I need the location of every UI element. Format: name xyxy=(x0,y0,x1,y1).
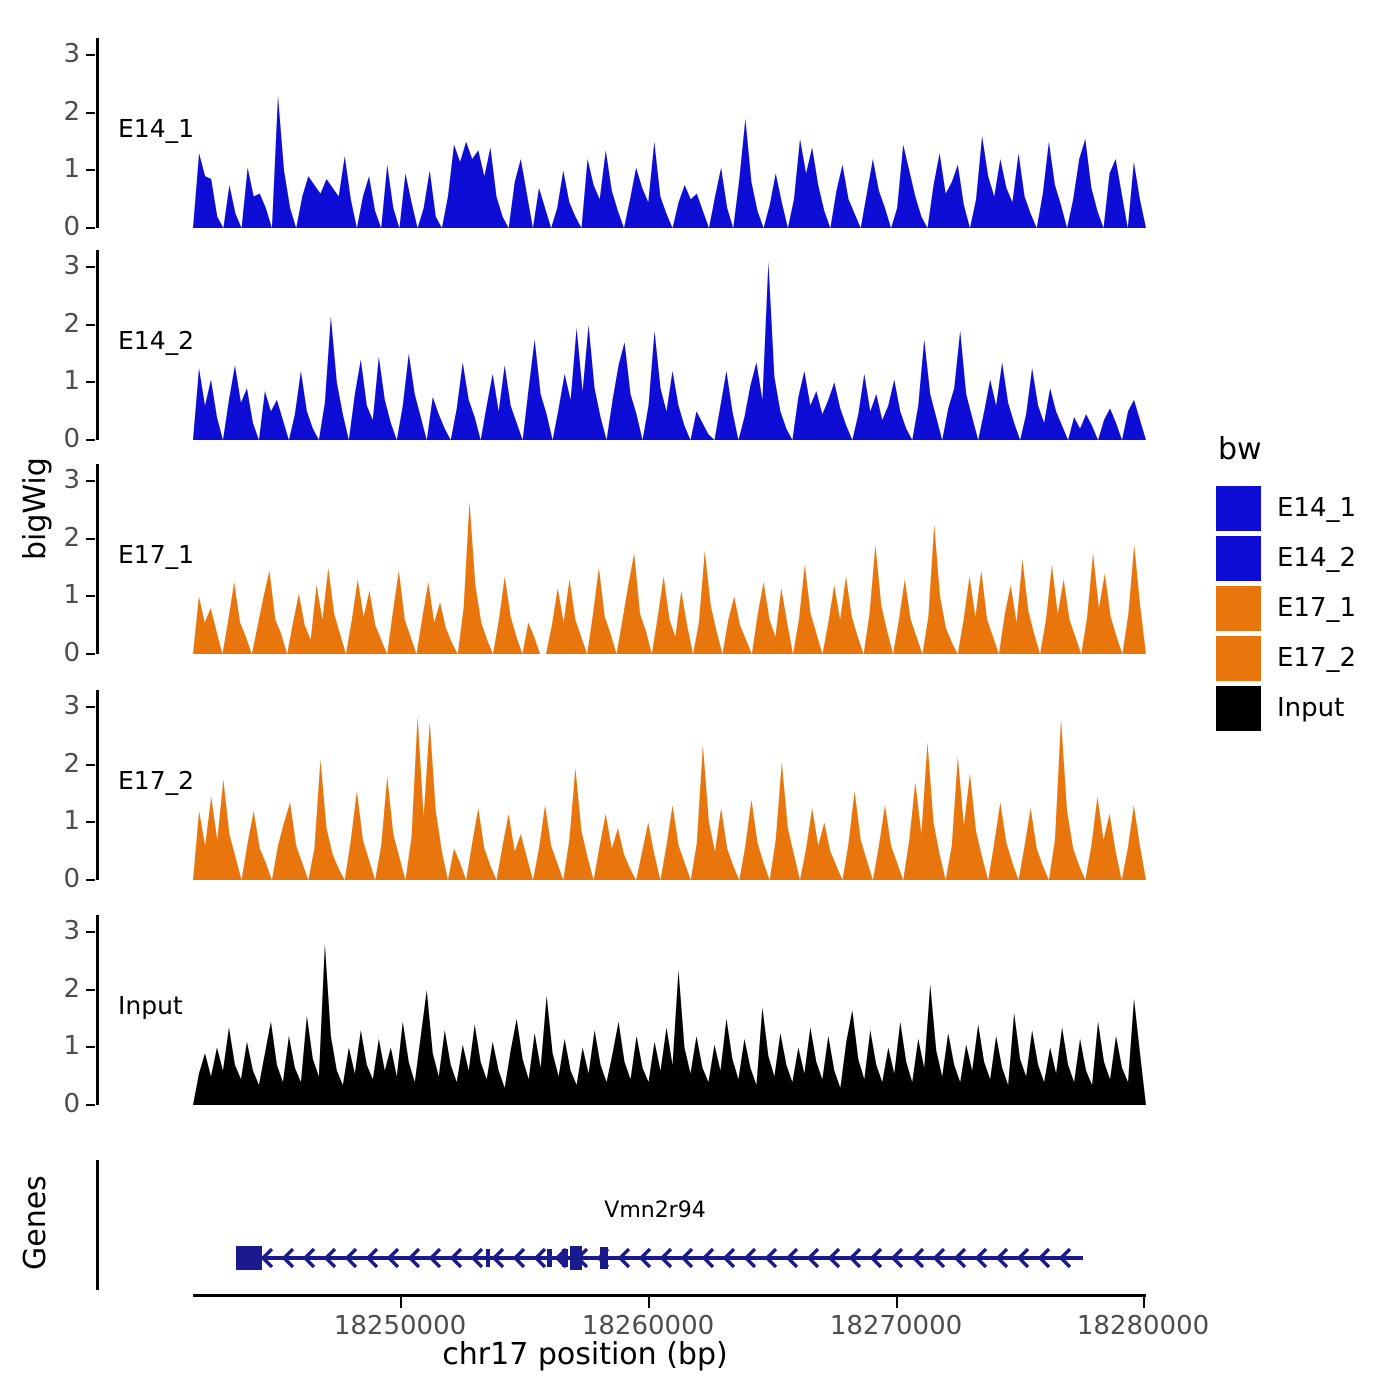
x-tick-mark xyxy=(1143,1297,1145,1308)
x-tick-label: 18270000 xyxy=(830,1311,962,1341)
track-panel-input: 0123Input xyxy=(96,915,1146,1105)
coverage-area-e14_2 xyxy=(96,250,1146,440)
coverage-area-input xyxy=(96,915,1146,1105)
legend: bw E14_1E14_2E17_1E17_2Input xyxy=(1216,432,1396,733)
y-axis-title-bigwig: bigWig xyxy=(18,457,53,560)
y-tick-mark xyxy=(86,653,95,655)
y-tick-label: 2 xyxy=(50,311,80,337)
y-tick-label: 1 xyxy=(50,582,80,608)
y-tick-mark xyxy=(86,480,95,482)
coverage-area-e17_1 xyxy=(96,464,1146,654)
y-tick-mark xyxy=(86,54,95,56)
legend-label: E14_1 xyxy=(1277,493,1356,523)
y-tick-mark xyxy=(86,764,95,766)
y-tick-mark xyxy=(86,324,95,326)
legend-item-e14_1[interactable]: E14_1 xyxy=(1216,483,1396,533)
legend-swatch xyxy=(1216,586,1261,631)
y-axis-title-genes: Genes xyxy=(18,1175,53,1270)
y-tick-mark xyxy=(86,439,95,441)
y-tick-mark xyxy=(86,381,95,383)
x-tick-mark xyxy=(896,1297,898,1308)
track-panel-e14_2: 0123E14_2 xyxy=(96,250,1146,440)
y-tick-label: 2 xyxy=(50,99,80,125)
y-tick-mark xyxy=(86,821,95,823)
y-tick-mark xyxy=(86,538,95,540)
y-tick-label: 3 xyxy=(50,693,80,719)
y-tick-mark xyxy=(86,227,95,229)
y-tick-mark xyxy=(86,1104,95,1106)
y-tick-label: 2 xyxy=(50,976,80,1002)
legend-item-input[interactable]: Input xyxy=(1216,683,1396,733)
legend-swatch xyxy=(1216,536,1261,581)
legend-swatch xyxy=(1216,636,1261,681)
y-tick-mark xyxy=(86,879,95,881)
x-axis-title: chr17 position (bp) xyxy=(0,1337,1170,1372)
track-panel-e17_2: 0123E17_2 xyxy=(96,690,1146,880)
y-tick-mark xyxy=(86,169,95,171)
y-tick-mark xyxy=(86,1046,95,1048)
coverage-area-e14_1 xyxy=(96,38,1146,228)
y-tick-label: 0 xyxy=(50,866,80,892)
x-tick-label: 18280000 xyxy=(1077,1311,1209,1341)
track-panel-e17_1: 0123E17_1 xyxy=(96,464,1146,654)
coverage-area-e17_2 xyxy=(96,690,1146,880)
y-tick-label: 1 xyxy=(50,156,80,182)
y-tick-mark xyxy=(86,706,95,708)
track-panel-e14_1: 0123E14_1 xyxy=(96,38,1146,228)
y-tick-mark xyxy=(86,595,95,597)
y-tick-label: 3 xyxy=(50,41,80,67)
legend-label: E17_2 xyxy=(1277,643,1356,673)
legend-swatch xyxy=(1216,686,1261,731)
y-tick-label: 0 xyxy=(50,1091,80,1117)
x-tick-mark xyxy=(400,1297,402,1308)
y-tick-label: 1 xyxy=(50,368,80,394)
genome-browser-figure: bigWig Genes chr17 position (bp) 0123E14… xyxy=(0,0,1400,1400)
y-tick-label: 3 xyxy=(50,918,80,944)
x-tick-mark xyxy=(648,1297,650,1308)
y-tick-label: 2 xyxy=(50,525,80,551)
y-tick-mark xyxy=(86,989,95,991)
legend-label: E17_1 xyxy=(1277,593,1356,623)
y-tick-label: 0 xyxy=(50,214,80,240)
legend-label: Input xyxy=(1277,693,1344,723)
legend-swatch xyxy=(1216,486,1261,531)
legend-item-e17_1[interactable]: E17_1 xyxy=(1216,583,1396,633)
y-tick-label: 1 xyxy=(50,1033,80,1059)
x-tick-label: 18250000 xyxy=(334,1311,466,1341)
legend-label: E14_2 xyxy=(1277,543,1356,573)
legend-title: bw xyxy=(1218,432,1396,467)
y-tick-mark xyxy=(86,931,95,933)
y-tick-mark xyxy=(86,112,95,114)
y-tick-label: 2 xyxy=(50,751,80,777)
y-tick-label: 0 xyxy=(50,426,80,452)
legend-item-e17_2[interactable]: E17_2 xyxy=(1216,633,1396,683)
y-tick-label: 3 xyxy=(50,253,80,279)
x-axis-line xyxy=(193,1294,1146,1297)
legend-items: E14_1E14_2E17_1E17_2Input xyxy=(1216,483,1396,733)
y-tick-label: 1 xyxy=(50,808,80,834)
x-tick-label: 18260000 xyxy=(582,1311,714,1341)
y-tick-label: 3 xyxy=(50,467,80,493)
legend-item-e14_2[interactable]: E14_2 xyxy=(1216,533,1396,583)
y-tick-mark xyxy=(86,266,95,268)
y-tick-label: 0 xyxy=(50,640,80,666)
genes-panel: Vmn2r94 xyxy=(96,1160,1146,1290)
